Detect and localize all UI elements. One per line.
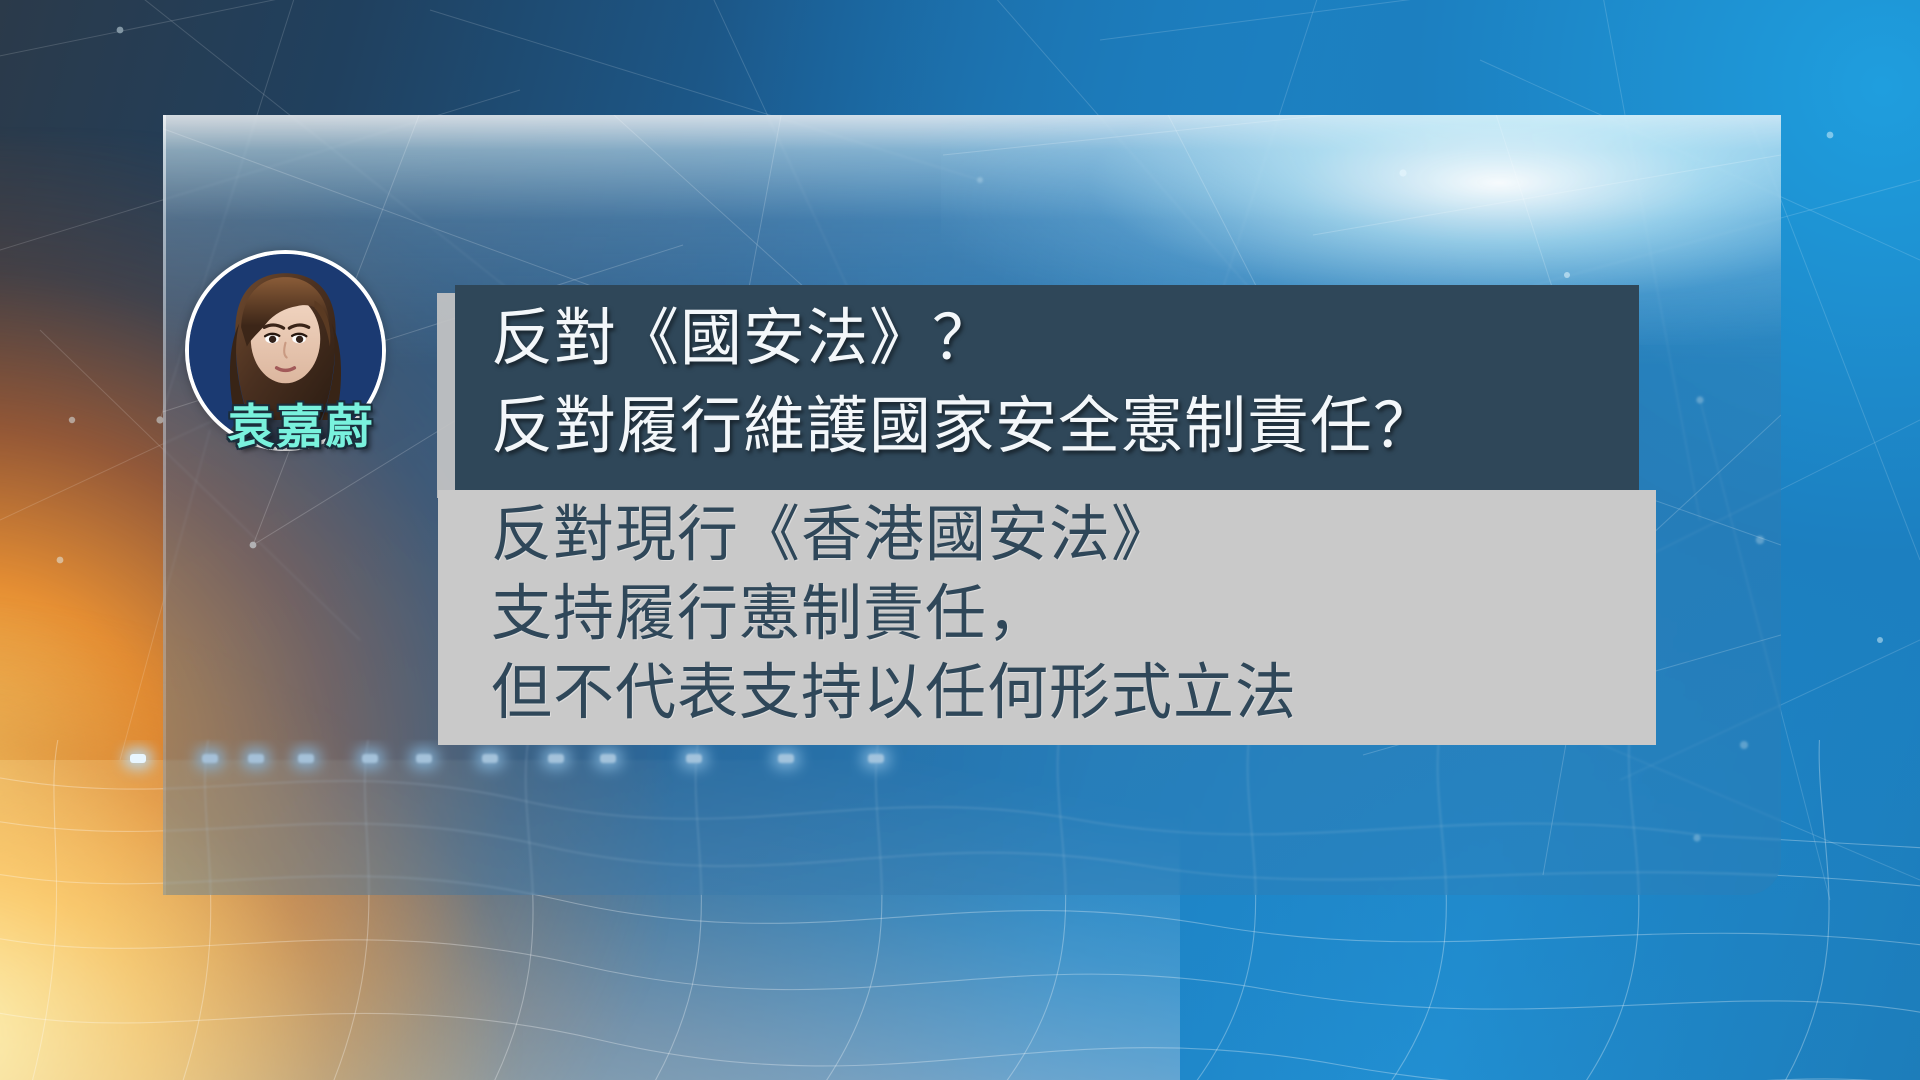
body-box: 反對現行《香港國安法》 支持履行憲制責任， 但不代表支持以任何形式立法 <box>438 490 1656 745</box>
body-line-3: 但不代表支持以任何形式立法 <box>491 662 1297 723</box>
headline-line-1: 反對《國安法》？ <box>491 307 995 369</box>
headline-line-2: 反對履行維護國家安全憲制責任？ <box>491 395 1436 457</box>
body-line-1: 反對現行《香港國安法》 <box>491 504 1173 565</box>
body-line-2: 支持履行憲制責任， <box>491 583 1049 644</box>
headline-box: 反對《國安法》？ 反對履行維護國家安全憲制責任？ <box>455 285 1639 490</box>
broadcast-graphic-stage: 袁嘉蔚 反對《國安法》？ 反對履行維護國家安全憲制責任？ 反對現行《香港國安法》… <box>0 0 1920 1080</box>
speaker-name: 袁嘉蔚 <box>186 388 416 457</box>
